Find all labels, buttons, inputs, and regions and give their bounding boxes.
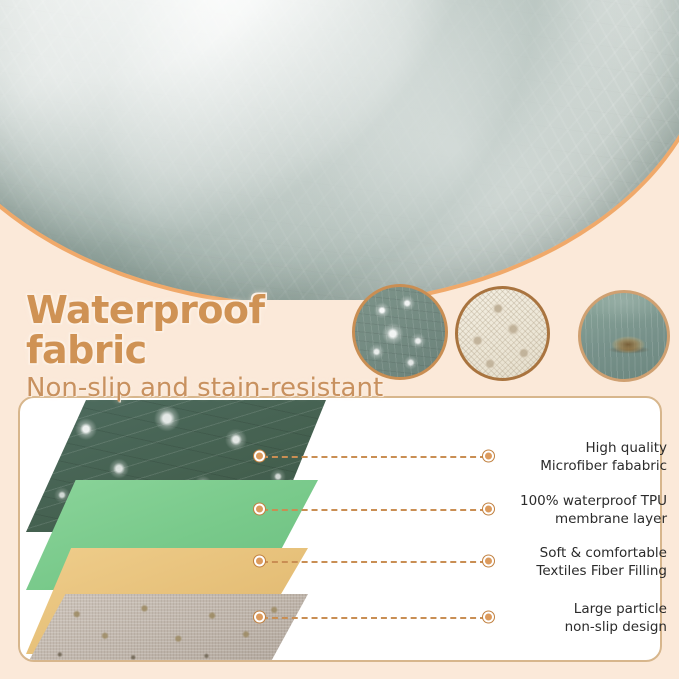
leader-dash-2 — [262, 509, 486, 511]
inset-stain-resistance-photo — [578, 290, 670, 382]
callout-1-line-2: Microfiber fababric — [540, 458, 667, 476]
callout-2-line-1: 100% waterproof TPU — [520, 493, 667, 511]
inset-microfiber-weave-photo — [455, 286, 550, 381]
layer-non-slip-backing — [26, 594, 308, 662]
callout-label-nonslip: Large particle non-slip design — [565, 601, 667, 637]
leader-dot-right-4 — [483, 612, 494, 623]
inset-water-beading-photo — [352, 284, 448, 380]
callout-4-line-2: non-slip design — [565, 619, 667, 637]
leader-dot-right-2 — [483, 504, 494, 515]
callout-label-tpu: 100% waterproof TPU membrane layer — [520, 493, 667, 529]
leader-line-1 — [254, 450, 494, 462]
callout-label-filling: Soft & comfortable Textiles Fiber Fillin… — [536, 545, 667, 581]
leader-dash-4 — [262, 617, 486, 619]
hero-fabric-photo — [0, 0, 679, 300]
leader-dot-left-4 — [254, 612, 265, 623]
callout-3-line-1: Soft & comfortable — [536, 545, 667, 563]
callout-1-line-1: High quality — [540, 440, 667, 458]
leader-dot-left-3 — [254, 556, 265, 567]
leader-dot-right-3 — [483, 556, 494, 567]
leader-line-2 — [254, 503, 494, 515]
callout-label-microfiber: High quality Microfiber fababric — [540, 440, 667, 476]
page-subtitle: Non-slip and stain-resistant — [26, 374, 386, 403]
leader-dot-right-1 — [483, 451, 494, 462]
page-title: Waterproof fabric — [26, 290, 386, 371]
leader-line-4 — [254, 611, 494, 623]
leader-dot-left-1 — [254, 451, 265, 462]
leader-dash-1 — [262, 456, 486, 458]
heading-block: Waterproof fabric Non-slip and stain-res… — [26, 290, 386, 402]
hero-section — [0, 0, 679, 300]
callout-4-line-1: Large particle — [565, 601, 667, 619]
leader-dash-3 — [262, 561, 486, 563]
leader-line-3 — [254, 555, 494, 567]
callout-2-line-2: membrane layer — [520, 511, 667, 529]
callout-3-line-2: Textiles Fiber Filling — [536, 563, 667, 581]
leader-dot-left-2 — [254, 504, 265, 515]
